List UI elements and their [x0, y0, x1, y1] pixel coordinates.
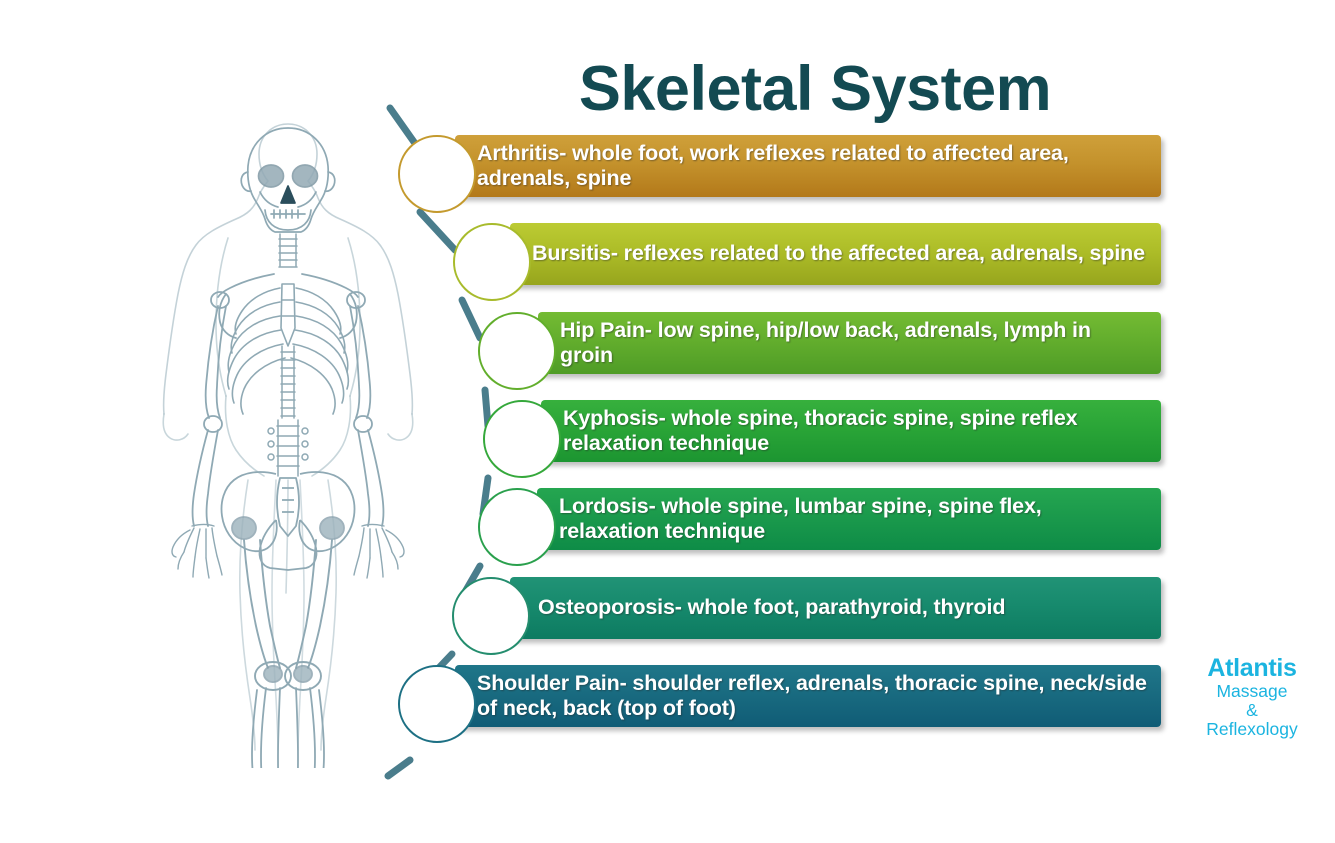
logo-line-massage: Massage — [1182, 682, 1322, 701]
bar-lordosis[interactable]: Lordosis- whole spine, lumbar spine, spi… — [537, 488, 1161, 550]
bar-kyphosis[interactable]: Kyphosis- whole spine, thoracic spine, s… — [541, 400, 1161, 462]
bar-row: Kyphosis- whole spine, thoracic spine, s… — [483, 400, 1161, 462]
logo-line-ampersand: & — [1182, 701, 1322, 720]
bar-row: Bursitis- reflexes related to the affect… — [453, 223, 1161, 285]
bar-row: Lordosis- whole spine, lumbar spine, spi… — [478, 488, 1161, 550]
bar-label-shoulder-pain: Shoulder Pain- shoulder reflex, adrenals… — [477, 671, 1147, 722]
bar-label-bursitis: Bursitis- reflexes related to the affect… — [532, 241, 1145, 266]
logo-title: Atlantis — [1182, 655, 1322, 682]
bar-row: Shoulder Pain- shoulder reflex, adrenals… — [398, 665, 1161, 727]
node-circle-bursitis[interactable] — [453, 223, 531, 301]
logo-line-reflexology: Reflexology — [1182, 720, 1322, 739]
node-circle-lordosis[interactable] — [478, 488, 556, 566]
node-circle-kyphosis[interactable] — [483, 400, 561, 478]
node-circle-arthritis[interactable] — [398, 135, 476, 213]
bar-label-osteoporosis: Osteoporosis- whole foot, parathyroid, t… — [538, 595, 1005, 620]
bar-hip-pain[interactable]: Hip Pain- low spine, hip/low back, adren… — [538, 312, 1161, 374]
brand-logo: Atlantis Massage & Reflexology — [1182, 655, 1322, 739]
bar-label-hip-pain: Hip Pain- low spine, hip/low back, adren… — [560, 318, 1147, 369]
bar-bursitis[interactable]: Bursitis- reflexes related to the affect… — [510, 223, 1161, 285]
bar-row: Osteoporosis- whole foot, parathyroid, t… — [452, 577, 1161, 639]
bar-arthritis[interactable]: Arthritis- whole foot, work reflexes rel… — [455, 135, 1161, 197]
node-circle-shoulder-pain[interactable] — [398, 665, 476, 743]
bar-row: Arthritis- whole foot, work reflexes rel… — [398, 135, 1161, 197]
bar-row: Hip Pain- low spine, hip/low back, adren… — [478, 312, 1161, 374]
page-title: Skeletal System — [430, 56, 1200, 122]
bar-shoulder-pain[interactable]: Shoulder Pain- shoulder reflex, adrenals… — [455, 665, 1161, 727]
bar-label-lordosis: Lordosis- whole spine, lumbar spine, spi… — [559, 494, 1147, 545]
node-circle-osteoporosis[interactable] — [452, 577, 530, 655]
bar-osteoporosis[interactable]: Osteoporosis- whole foot, parathyroid, t… — [510, 577, 1161, 639]
bar-label-kyphosis: Kyphosis- whole spine, thoracic spine, s… — [563, 406, 1147, 457]
slide-canvas: Skeletal System — [0, 0, 1335, 843]
node-circle-hip-pain[interactable] — [478, 312, 556, 390]
bar-label-arthritis: Arthritis- whole foot, work reflexes rel… — [477, 141, 1147, 192]
